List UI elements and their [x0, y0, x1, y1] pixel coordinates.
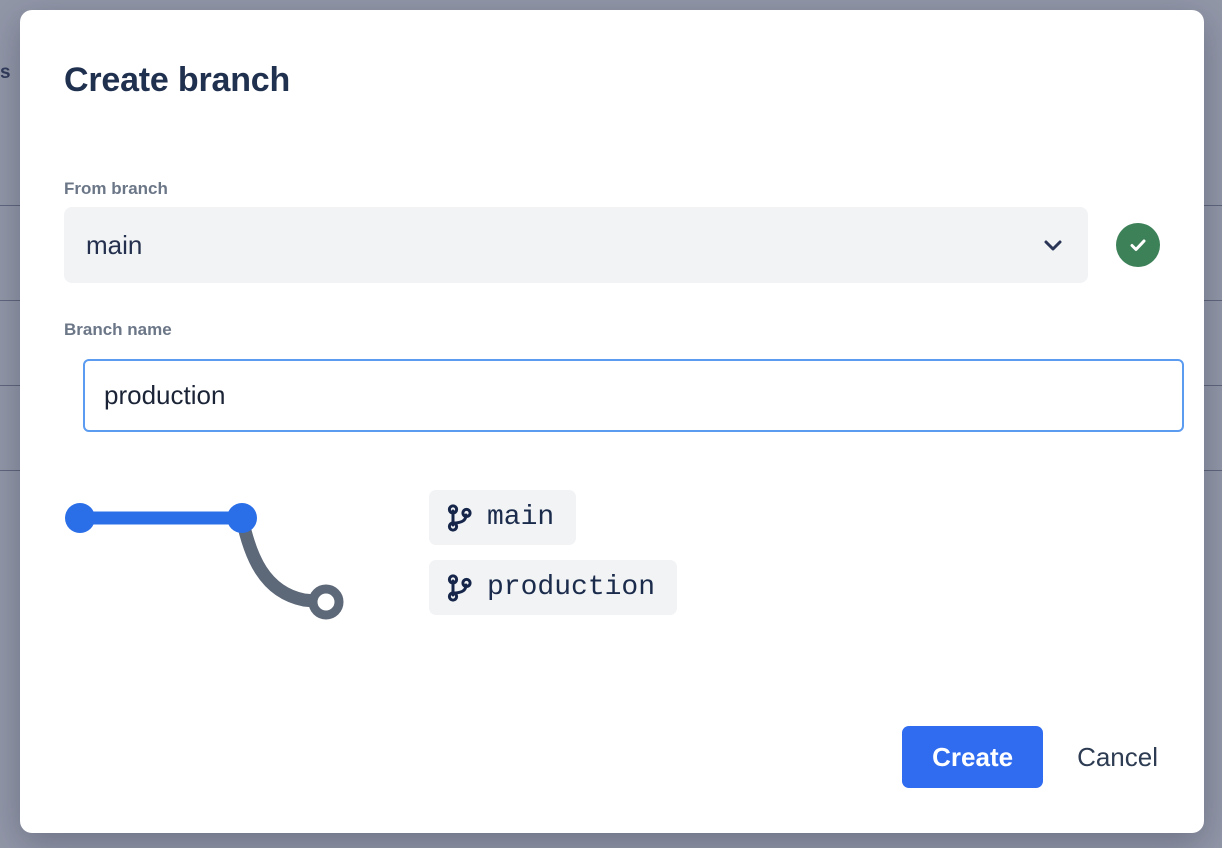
check-icon: [1126, 233, 1150, 257]
branch-name-label: Branch name: [64, 321, 172, 338]
graph-node-base-commit-2: [227, 503, 257, 533]
graph-node-new-branch-head: [313, 589, 339, 615]
create-button[interactable]: Create: [902, 726, 1043, 788]
from-branch-label: From branch: [64, 180, 168, 197]
branch-label-list: main production: [429, 490, 677, 615]
branch-name-valid-badge: [1116, 223, 1160, 267]
branch-chip-production: production: [429, 560, 677, 615]
graph-node-base-commit-1: [65, 503, 95, 533]
branch-graph: [64, 476, 384, 641]
branch-chip-label: production: [487, 574, 655, 602]
create-branch-dialog: Create branch From branch main Branch na…: [20, 10, 1204, 833]
dialog-actions: Create Cancel: [902, 726, 1160, 788]
branch-chip-main: main: [429, 490, 576, 545]
chevron-down-icon[interactable]: [1042, 234, 1064, 256]
git-branch-icon: [447, 574, 473, 602]
from-branch-value: main: [86, 232, 142, 258]
from-branch-select[interactable]: main: [64, 207, 1088, 283]
branch-chip-label: main: [487, 504, 554, 532]
cancel-button[interactable]: Cancel: [1075, 744, 1160, 770]
from-branch-row: main: [64, 207, 1160, 283]
git-branch-icon: [447, 504, 473, 532]
branch-name-input[interactable]: [83, 359, 1184, 432]
graph-branch-curve: [242, 518, 326, 602]
dialog-title: Create branch: [64, 62, 1160, 99]
